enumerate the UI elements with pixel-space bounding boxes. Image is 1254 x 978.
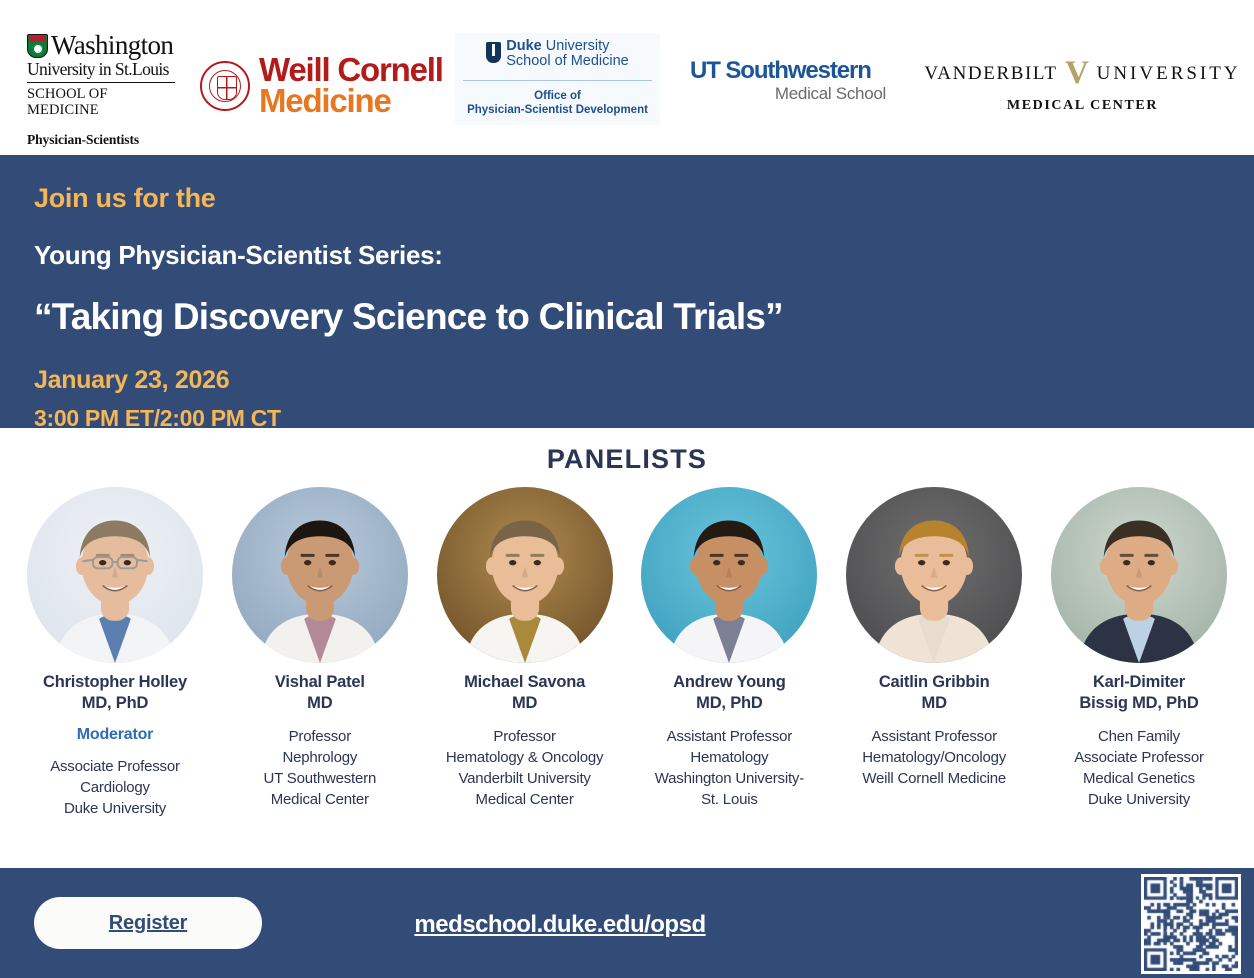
panelist-affiliation: ProfessorNephrologyUT SouthwesternMedica…: [219, 726, 421, 810]
panelist-name-line2: MD: [219, 693, 421, 714]
panelist-role-badge: Moderator: [14, 726, 216, 744]
panelist-card: Caitlin GribbinMDAssistant ProfessorHema…: [833, 487, 1035, 819]
photo-michael-savona: [437, 487, 613, 663]
panelist-affiliation: Associate ProfessorCardiologyDuke Univer…: [14, 756, 216, 819]
duke-line1-bold: Duke: [506, 38, 541, 54]
duke-divider: [463, 80, 652, 81]
panelist-affiliation-line: Hematology: [628, 747, 830, 768]
duke-shield-icon: [486, 42, 501, 63]
partner-logo-bar: Washington University in St.Louis SCHOOL…: [0, 0, 1254, 155]
washu-divider: [27, 82, 175, 83]
utsw-line1: UT Southwestern: [690, 58, 886, 83]
panelist-affiliation-line: Cardiology: [14, 777, 216, 798]
duke-line1-rest: University: [542, 38, 610, 54]
panelist-affiliation-line: Vanderbilt University: [424, 768, 626, 789]
panelist-name: Michael SavonaMD: [424, 672, 626, 714]
hero-join-text: Join us for the: [34, 183, 1254, 214]
photo-andrew-young: [641, 487, 817, 663]
panelist-affiliation-line: Nephrology: [219, 747, 421, 768]
panelist-name: Christopher HolleyMD, PhD: [14, 672, 216, 714]
panelist-name-line1: Michael Savona: [424, 672, 626, 693]
panelist-affiliation-line: Professor: [219, 726, 421, 747]
washu-line2: University in St.Louis: [27, 59, 175, 79]
panelist-affiliation: Assistant ProfessorHematologyWashington …: [628, 726, 830, 810]
cornell-seal-icon: [200, 61, 250, 111]
panelist-name-line2: MD: [424, 693, 626, 714]
vanderbilt-v-icon: V: [1064, 60, 1091, 87]
vanderbilt-word2: UNIVERSITY: [1097, 63, 1241, 85]
cornell-line2: Medicine: [259, 86, 443, 117]
panelist-name: Caitlin GribbinMD: [833, 672, 1035, 714]
panelist-name-line1: Vishal Patel: [219, 672, 421, 693]
duke-office-line2: Physician-Scientist Development: [461, 104, 654, 118]
photo-vishal-patel: [232, 487, 408, 663]
panelist-affiliation-line: Professor: [424, 726, 626, 747]
panelist-affiliation-line: Associate Professor: [1038, 747, 1240, 768]
panelist-affiliation-line: UT Southwestern: [219, 768, 421, 789]
event-url-link[interactable]: medschool.duke.edu/opsd: [0, 911, 1120, 939]
panelist-name: Vishal PatelMD: [219, 672, 421, 714]
photo-christopher-holley: [27, 487, 203, 663]
hero-series-name: Young Physician-Scientist Series:: [34, 240, 1254, 271]
panelist-affiliation-line: Duke University: [14, 798, 216, 819]
panelist-name-line2: Bissig MD, PhD: [1038, 693, 1240, 714]
duke-line2: School of Medicine: [506, 54, 629, 69]
panelist-card: Michael SavonaMDProfessorHematology & On…: [424, 487, 626, 819]
vanderbilt-word1: VANDERBILT: [924, 63, 1057, 85]
panelist-card: Christopher HolleyMD, PhDModeratorAssoci…: [14, 487, 216, 819]
panelist-affiliation-line: Washington University-: [628, 768, 830, 789]
panelist-affiliation: Chen FamilyAssociate ProfessorMedical Ge…: [1038, 726, 1240, 810]
photo-karl-dimiter-bissig: [1051, 487, 1227, 663]
panelist-affiliation-line: St. Louis: [628, 789, 830, 810]
panelist-name-line2: MD: [833, 693, 1035, 714]
panelist-affiliation: Assistant ProfessorHematology/OncologyWe…: [833, 726, 1035, 789]
logo-weill-cornell-medicine: Weill Cornell Medicine: [200, 55, 443, 116]
event-hero-banner: Join us for the Young Physician-Scientis…: [0, 155, 1254, 428]
logo-washington-university: Washington University in St.Louis SCHOOL…: [27, 32, 175, 148]
panelist-affiliation-line: Hematology & Oncology: [424, 747, 626, 768]
qr-code-icon[interactable]: [1141, 874, 1241, 974]
panelist-affiliation: ProfessorHematology & OncologyVanderbilt…: [424, 726, 626, 810]
photo-caitlin-gribbin: [846, 487, 1022, 663]
washu-line4: Physician-Scientists: [27, 132, 175, 148]
panelist-affiliation-line: Assistant Professor: [628, 726, 830, 747]
panelist-affiliation-line: Medical Center: [424, 789, 626, 810]
panelist-name-line1: Karl-Dimiter: [1038, 672, 1240, 693]
panelist-name-line1: Christopher Holley: [14, 672, 216, 693]
logo-vanderbilt-university: VANDERBILT V UNIVERSITY MEDICAL CENTER: [940, 60, 1225, 114]
washu-shield-icon: [27, 34, 48, 58]
panelists-heading: PANELISTS: [0, 428, 1254, 475]
washu-line1: Washington: [51, 32, 173, 58]
qr-code-canvas: [1144, 877, 1238, 971]
panelist-name-line2: MD, PhD: [628, 693, 830, 714]
washu-line3: SCHOOL OF MEDICINE: [27, 86, 175, 118]
panelist-row: Christopher HolleyMD, PhDModeratorAssoci…: [0, 487, 1254, 819]
panelist-name: Karl-DimiterBissig MD, PhD: [1038, 672, 1240, 714]
panelist-affiliation-line: Assistant Professor: [833, 726, 1035, 747]
panelist-affiliation-line: Weill Cornell Medicine: [833, 768, 1035, 789]
panelist-name-line1: Caitlin Gribbin: [833, 672, 1035, 693]
logo-ut-southwestern: UT Southwestern Medical School: [690, 58, 886, 104]
panelist-affiliation-line: Chen Family: [1038, 726, 1240, 747]
utsw-line2: Medical School: [690, 84, 886, 104]
hero-event-date: January 23, 2026: [34, 366, 1254, 395]
hero-event-title: “Taking Discovery Science to Clinical Tr…: [34, 296, 1254, 338]
panelist-affiliation-line: Duke University: [1038, 789, 1240, 810]
panelists-section: PANELISTS: [0, 428, 1254, 868]
panelist-card: Andrew YoungMD, PhDAssistant ProfessorHe…: [628, 487, 830, 819]
vanderbilt-line2: MEDICAL CENTER: [940, 98, 1225, 114]
panelist-affiliation-line: Medical Center: [219, 789, 421, 810]
panelist-card: Vishal PatelMDProfessorNephrologyUT Sout…: [219, 487, 421, 819]
panelist-name-line2: MD, PhD: [14, 693, 216, 714]
panelist-affiliation-line: Associate Professor: [14, 756, 216, 777]
panelist-affiliation-line: Medical Genetics: [1038, 768, 1240, 789]
footer-bar: Register medschool.duke.edu/opsd: [0, 868, 1254, 978]
panelist-name: Andrew YoungMD, PhD: [628, 672, 830, 714]
panelist-card: Karl-DimiterBissig MD, PhDChen FamilyAss…: [1038, 487, 1240, 819]
duke-line1: Duke University: [506, 39, 629, 54]
panelist-name-line1: Andrew Young: [628, 672, 830, 693]
duke-office-line1: Office of: [461, 90, 654, 104]
logo-duke-school-of-medicine: Duke University School of Medicine Offic…: [455, 33, 660, 125]
panelist-affiliation-line: Hematology/Oncology: [833, 747, 1035, 768]
